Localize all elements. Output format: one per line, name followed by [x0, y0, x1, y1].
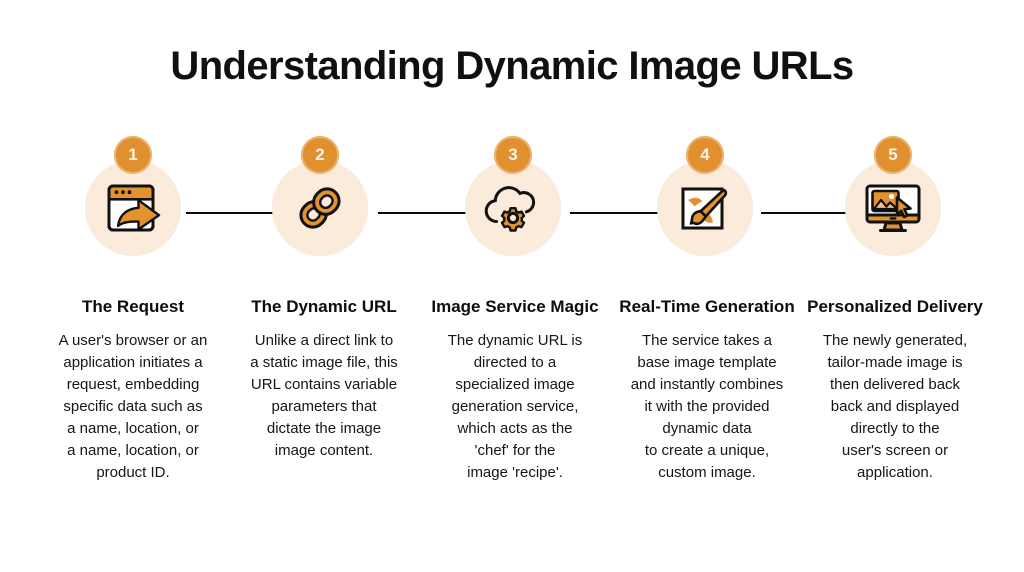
- monitor-image-cursor-icon: [861, 177, 925, 239]
- process-flow: 1 2: [0, 136, 1024, 286]
- step-badge-4: 4: [686, 136, 724, 174]
- step-icon-circle-1: [85, 160, 181, 256]
- step-heading-4: Real-Time Generation: [611, 296, 803, 318]
- step-badge-1: 1: [114, 136, 152, 174]
- canvas-paintbrush-icon: [674, 177, 736, 239]
- step-heading-3: Image Service Magic: [419, 296, 611, 318]
- step-badge-5: 5: [874, 136, 912, 174]
- step-body-3: The dynamic URL is directed to a special…: [419, 330, 611, 484]
- browser-window-share-arrow-icon: [102, 177, 164, 239]
- step-badge-3: 3: [494, 136, 532, 174]
- step-body-2: Unlike a direct link to a static image f…: [228, 330, 420, 462]
- step-heading-1: The Request: [37, 296, 229, 318]
- step-column-3: Image Service Magic The dynamic URL is d…: [419, 296, 611, 484]
- cloud-gear-icon: [481, 176, 545, 240]
- step-heading-5: Personalized Delivery: [799, 296, 991, 318]
- step-column-1: The Request A user's browser or an appli…: [37, 296, 229, 484]
- page-title: Understanding Dynamic Image URLs: [0, 44, 1024, 88]
- step-column-2: The Dynamic URL Unlike a direct link to …: [228, 296, 420, 462]
- chain-link-icon: [289, 177, 351, 239]
- step-column-4: Real-Time Generation The service takes a…: [611, 296, 803, 484]
- infographic-page: Understanding Dynamic Image URLs: [0, 0, 1024, 572]
- step-descriptions: The Request A user's browser or an appli…: [0, 296, 1024, 546]
- step-body-1: A user's browser or an application initi…: [37, 330, 229, 484]
- step-column-5: Personalized Delivery The newly generate…: [799, 296, 991, 484]
- step-heading-2: The Dynamic URL: [228, 296, 420, 318]
- monitor-image-cursor-icon-wrap: [845, 160, 941, 256]
- step-badge-2: 2: [301, 136, 339, 174]
- step-body-4: The service takes a base image template …: [611, 330, 803, 484]
- step-icon-circle-4: [657, 160, 753, 256]
- step-icon-circle-3: [465, 160, 561, 256]
- step-icon-circle-2: [272, 160, 368, 256]
- step-body-5: The newly generated, tailor-made image i…: [799, 330, 991, 484]
